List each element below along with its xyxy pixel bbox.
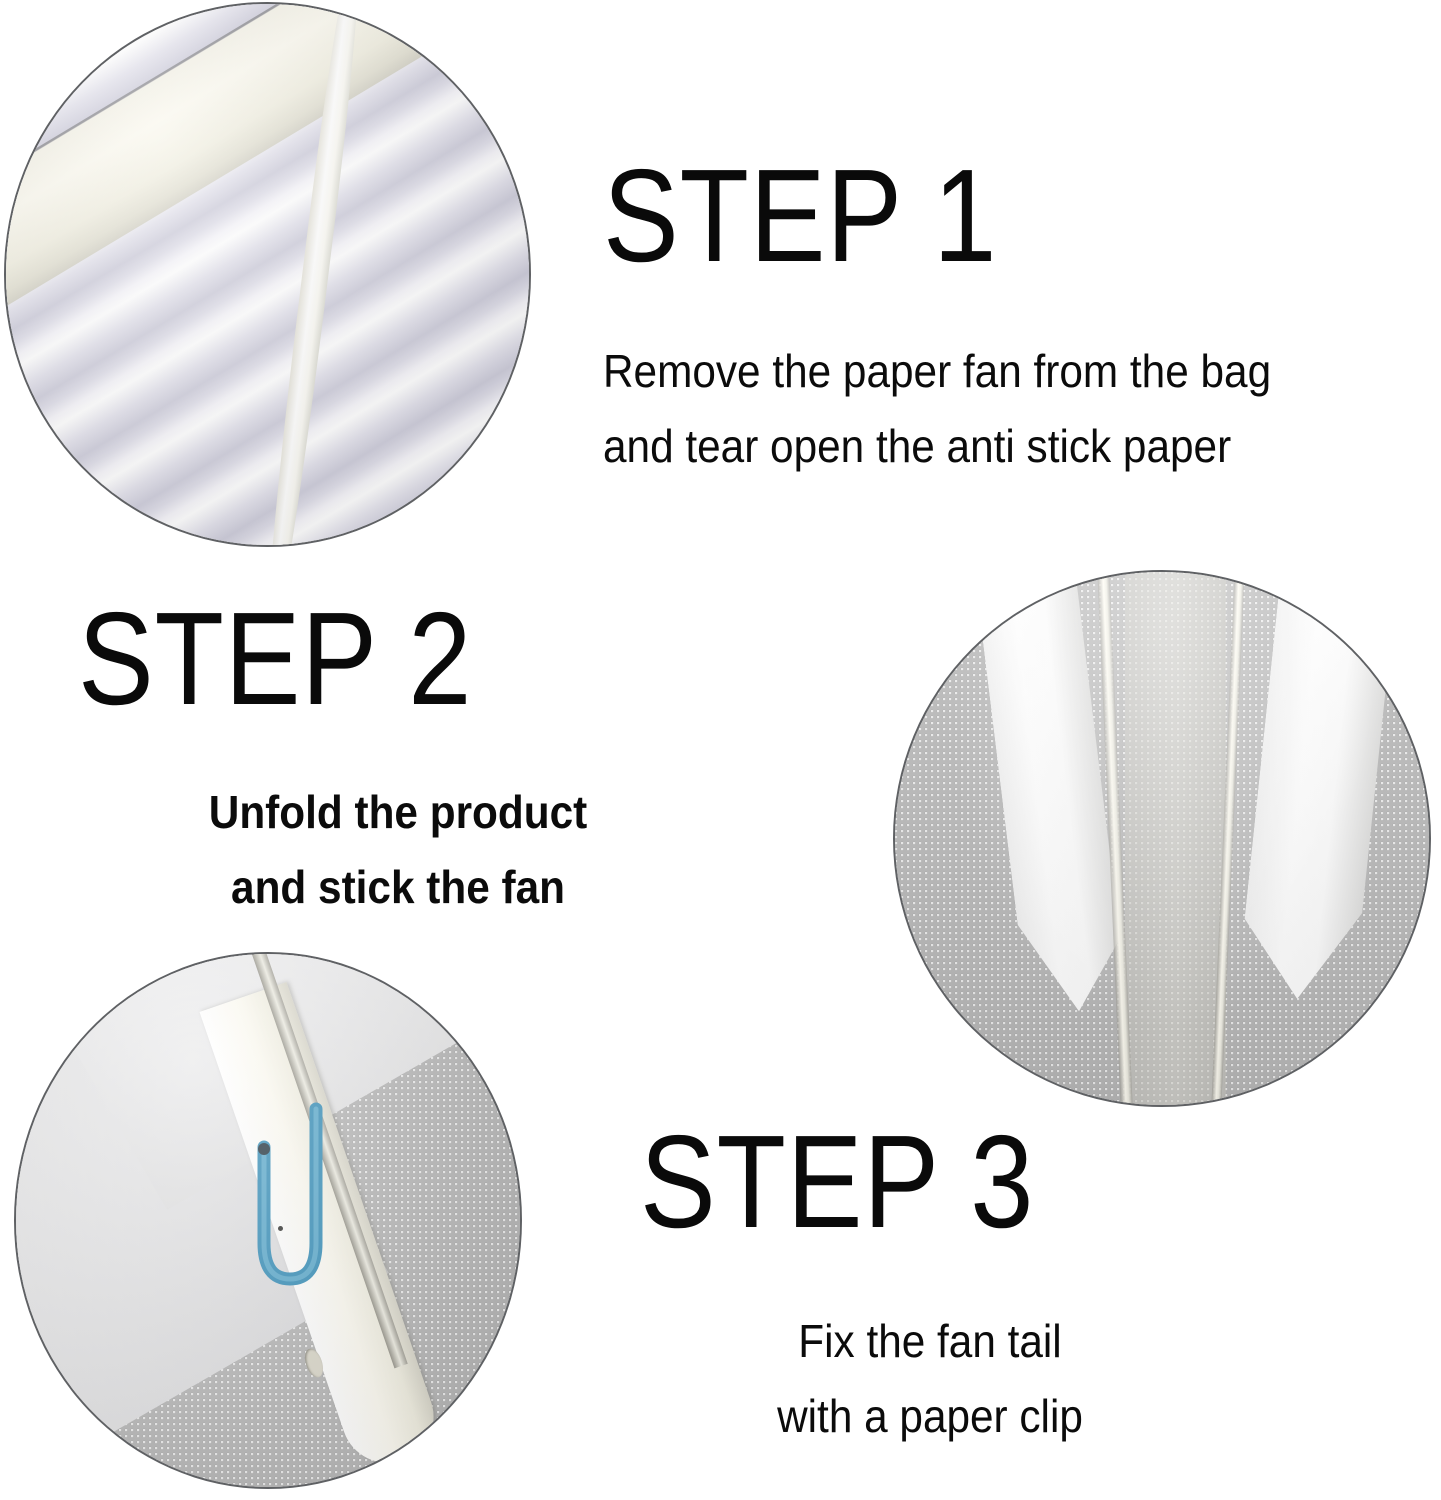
step-1-text-block: STEP 1 Remove the paper fan from the bag…: [603, 150, 1329, 483]
step-1-title: STEP 1: [603, 150, 1228, 282]
step-1-line-1: Remove the paper fan from the bag: [603, 334, 1271, 409]
step-3-line-2: with a paper clip: [663, 1379, 1197, 1454]
infographic-canvas: STEP 1 Remove the paper fan from the bag…: [0, 0, 1441, 1500]
step-2-line-2: and stick the fan: [104, 850, 693, 925]
step-1-line-2: and tear open the anti stick paper: [603, 409, 1271, 484]
step-3-line-1: Fix the fan tail: [663, 1304, 1197, 1379]
photo-shading-overlay: [6, 4, 529, 545]
photo-shading-overlay: [895, 572, 1429, 1105]
step-2-body: Unfold the product and stick the fan: [78, 775, 718, 924]
paper-fan-adhesive-strip-photo: [4, 2, 531, 547]
fan-tail-paper-clip-photo: [14, 952, 522, 1489]
unfolded-fan-panels-photo: [893, 570, 1431, 1107]
photo-shading-overlay: [16, 954, 520, 1487]
step-3-body: Fix the fan tail with a paper clip: [640, 1304, 1220, 1453]
step-2-line-1: Unfold the product: [104, 775, 693, 850]
step-1-body: Remove the paper fan from the bag and te…: [603, 334, 1329, 483]
step-2-title: STEP 2: [78, 593, 628, 725]
step-2-text-block: STEP 2 Unfold the product and stick the …: [78, 593, 718, 924]
step-3-text-block: STEP 3 Fix the fan tail with a paper cli…: [640, 1116, 1220, 1453]
step-3-title: STEP 3: [640, 1116, 1139, 1248]
